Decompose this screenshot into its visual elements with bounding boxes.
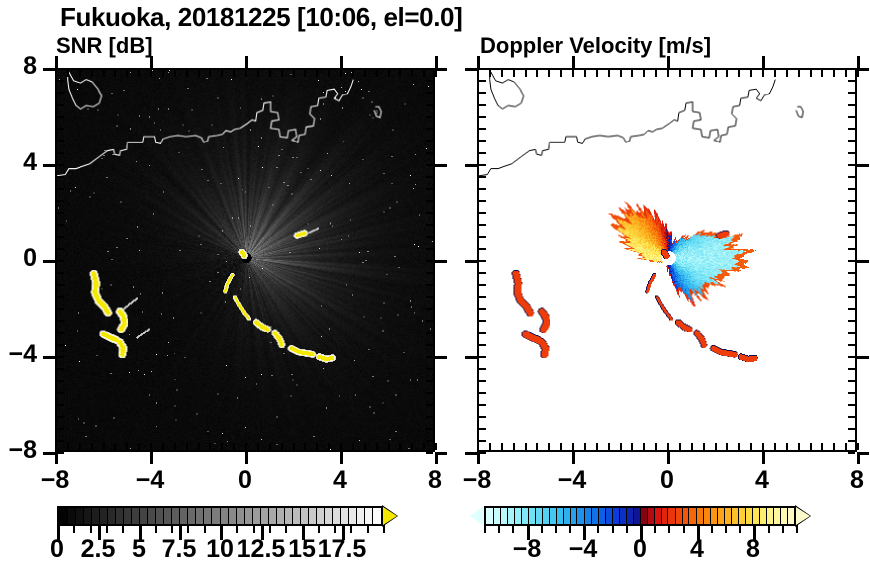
colorbar-over-arrow [383,507,397,525]
colorbar-tick-label: 17.5 [292,535,392,564]
colorbar-gradient [57,506,383,526]
colorbar-gradient [484,506,796,526]
x-tick-label: 0 [205,466,285,495]
x-tick-label: −8 [15,466,95,495]
right-panel-title: Doppler Velocity [m/s] [480,33,711,59]
x-tick-label: −4 [532,466,612,495]
x-tick-label: 8 [817,466,870,495]
x-tick-label: 4 [300,466,380,495]
colorbar-over-arrow [796,507,810,525]
doppler-plot-area[interactable] [479,70,855,450]
snr-panel[interactable] [55,68,435,452]
snr-plot-area[interactable] [57,70,433,450]
colorbar-under-arrow [470,506,484,526]
x-tick-label: 0 [627,466,707,495]
y-tick-label: 4 [0,148,37,177]
colorbar-tick-label: 8 [703,535,803,564]
y-tick-label: 0 [0,244,37,273]
page-title: Fukuoka, 20181225 [10:06, el=0.0] [60,2,462,33]
y-tick-label: 8 [0,52,37,81]
doppler-panel[interactable] [477,68,857,452]
doppler-colorbar[interactable] [470,506,810,526]
y-tick-label: −4 [0,340,37,369]
y-tick-label: −8 [0,436,37,465]
snr-colorbar[interactable] [57,506,397,526]
x-tick-label: 4 [722,466,802,495]
x-tick-label: −8 [437,466,517,495]
left-panel-title: SNR [dB] [56,33,153,59]
x-tick-label: −4 [110,466,190,495]
